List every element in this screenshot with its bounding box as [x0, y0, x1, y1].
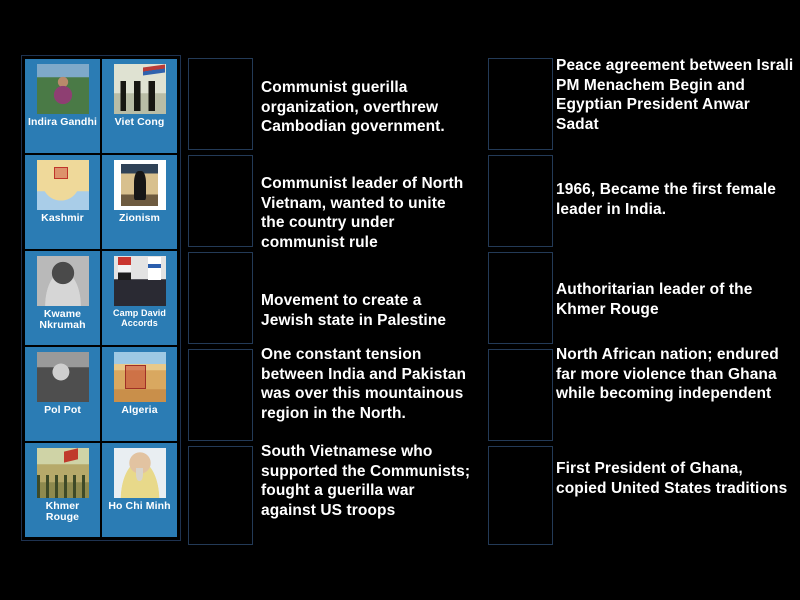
answer-text-right-3: Authoritarian leader of the Khmer Rouge: [556, 280, 796, 319]
tile-label: Khmer Rouge: [28, 501, 97, 524]
answer-text-middle-3: Movement to create a Jewish state in Pal…: [261, 291, 471, 330]
answer-text-middle-5: South Vietnamese who supported the Commu…: [261, 442, 471, 520]
camp-david-accords-photo-image: [114, 256, 166, 306]
dropzone-middle-4[interactable]: [188, 349, 253, 441]
zionism-poster-image: [114, 160, 166, 210]
viet-cong-soldiers-image: [114, 64, 166, 114]
answer-text-middle-4: One constant tension between India and P…: [261, 345, 471, 423]
tile-kashmir[interactable]: Kashmir: [25, 155, 100, 249]
dropzone-middle-1[interactable]: [188, 58, 253, 150]
tile-camp-david-accords[interactable]: Camp David Accords: [102, 251, 177, 345]
tile-label: Indira Gandhi: [28, 117, 97, 128]
tile-zionism[interactable]: Zionism: [102, 155, 177, 249]
ho-chi-minh-portrait-image: [114, 448, 166, 498]
pol-pot-portrait-image: [37, 352, 89, 402]
tile-label: Kashmir: [41, 213, 84, 224]
tile-label: Zionism: [119, 213, 160, 224]
tile-label: Camp David Accords: [105, 309, 174, 328]
khmer-rouge-field-image: [37, 448, 89, 498]
dropzone-middle-3[interactable]: [188, 252, 253, 344]
kashmir-map-image: [37, 160, 89, 210]
dropzone-right-4[interactable]: [488, 349, 553, 441]
tile-viet-cong[interactable]: Viet Cong: [102, 59, 177, 153]
draggable-tile-tray: Indira Gandhi Viet Cong Kashmir Zionism …: [21, 55, 181, 541]
indira-gandhi-portrait-image: [37, 64, 89, 114]
tile-label: Kwame Nkrumah: [28, 309, 97, 332]
dropzone-middle-2[interactable]: [188, 155, 253, 247]
tile-ho-chi-minh[interactable]: Ho Chi Minh: [102, 443, 177, 537]
answer-text-right-1: Peace agreement between Israli PM Menach…: [556, 56, 796, 134]
dropzone-right-3[interactable]: [488, 252, 553, 344]
tile-label: Algeria: [121, 405, 157, 416]
tile-label: Viet Cong: [115, 117, 165, 128]
kwame-nkrumah-portrait-image: [37, 256, 89, 306]
answer-text-middle-2: Communist leader of North Vietnam, wante…: [261, 174, 471, 252]
tile-label: Pol Pot: [44, 405, 81, 416]
answer-text-right-4: North African nation; endured far more v…: [556, 345, 796, 404]
algeria-map-image: [114, 352, 166, 402]
dropzone-middle-5[interactable]: [188, 446, 253, 545]
tile-khmer-rouge[interactable]: Khmer Rouge: [25, 443, 100, 537]
answer-text-middle-1: Communist guerilla organization, overthr…: [261, 78, 471, 137]
activity-stage: Indira Gandhi Viet Cong Kashmir Zionism …: [0, 0, 800, 600]
dropzone-right-2[interactable]: [488, 155, 553, 247]
tile-kwame-nkrumah[interactable]: Kwame Nkrumah: [25, 251, 100, 345]
answer-text-right-2: 1966, Became the first female leader in …: [556, 180, 796, 219]
dropzone-right-1[interactable]: [488, 58, 553, 150]
tile-algeria[interactable]: Algeria: [102, 347, 177, 441]
dropzone-right-5[interactable]: [488, 446, 553, 545]
tile-label: Ho Chi Minh: [108, 501, 170, 512]
answer-text-right-5: First President of Ghana, copied United …: [556, 459, 796, 498]
tile-pol-pot[interactable]: Pol Pot: [25, 347, 100, 441]
tile-indira-gandhi[interactable]: Indira Gandhi: [25, 59, 100, 153]
